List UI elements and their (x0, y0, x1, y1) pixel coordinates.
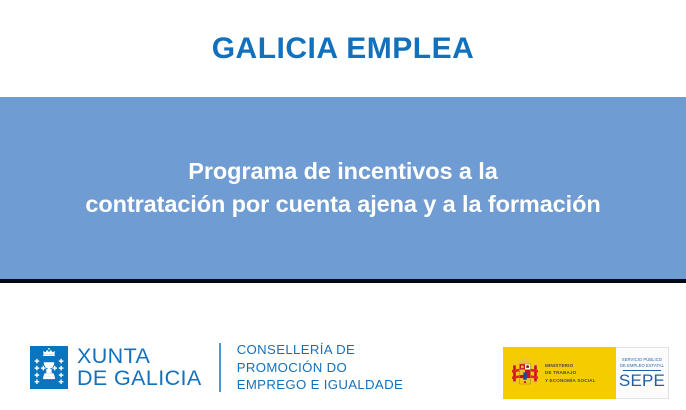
sepe-subtitle-line-2: DE EMPLEO ESTATAL (620, 363, 664, 369)
xunta-wordmark-line-2: DE GALICIA (77, 367, 202, 390)
sepe-acronym: SEPE (619, 372, 665, 389)
program-banner-text: Programa de incentivos a la contratación… (75, 155, 610, 222)
conselleria-line-1: CONSELLERÍA DE (237, 341, 403, 359)
program-banner-line-1: Programa de incentivos a la (188, 158, 497, 184)
ministerio-wordmark: MINISTERIO DE TRABAJO Y ECONOMÍA SOCIAL (545, 362, 596, 383)
spain-coat-of-arms-icon (511, 356, 539, 390)
sepe-logo: SERVICIO PÚBLICO DE EMPLEO ESTATAL SEPE (616, 347, 669, 399)
footer-logos: XUNTA DE GALICIA CONSELLERÍA DE PROMOCIÓ… (0, 283, 686, 410)
page-title: GALICIA EMPLEA (212, 34, 475, 64)
conselleria-wordmark: CONSELLERÍA DE PROMOCIÓN DO EMPREGO E IG… (237, 341, 403, 394)
ministerio-line-2: DE TRABAJO (545, 369, 596, 376)
conselleria-line-2: PROMOCIÓN DO (237, 359, 403, 377)
ministerio-sepe-lockup: MINISTERIO DE TRABAJO Y ECONOMÍA SOCIAL … (503, 347, 669, 399)
conselleria-line-3: EMPREGO E IGUALDADE (237, 376, 403, 394)
program-banner-line-2: contratación por cuenta ajena y a la for… (85, 188, 600, 221)
xunta-de-galicia-lockup: XUNTA DE GALICIA CONSELLERÍA DE PROMOCIÓ… (30, 341, 403, 394)
sepe-subtitle: SERVICIO PÚBLICO DE EMPLEO ESTATAL (620, 357, 664, 368)
ministerio-de-trabajo-logo: MINISTERIO DE TRABAJO Y ECONOMÍA SOCIAL (503, 347, 616, 399)
ministerio-line-3: Y ECONOMÍA SOCIAL (545, 377, 596, 384)
lockup-divider (219, 343, 221, 392)
program-banner: Programa de incentivos a la contratación… (0, 97, 686, 279)
sepe-subtitle-line-1: SERVICIO PÚBLICO (620, 357, 664, 363)
poster-root: GALICIA EMPLEA Programa de incentivos a … (0, 0, 686, 410)
xunta-wordmark: XUNTA DE GALICIA (77, 345, 202, 390)
ministerio-line-1: MINISTERIO (545, 362, 596, 369)
xunta-de-galicia-emblem-icon (30, 346, 68, 389)
title-area: GALICIA EMPLEA (0, 0, 686, 97)
xunta-wordmark-line-1: XUNTA (77, 345, 202, 368)
